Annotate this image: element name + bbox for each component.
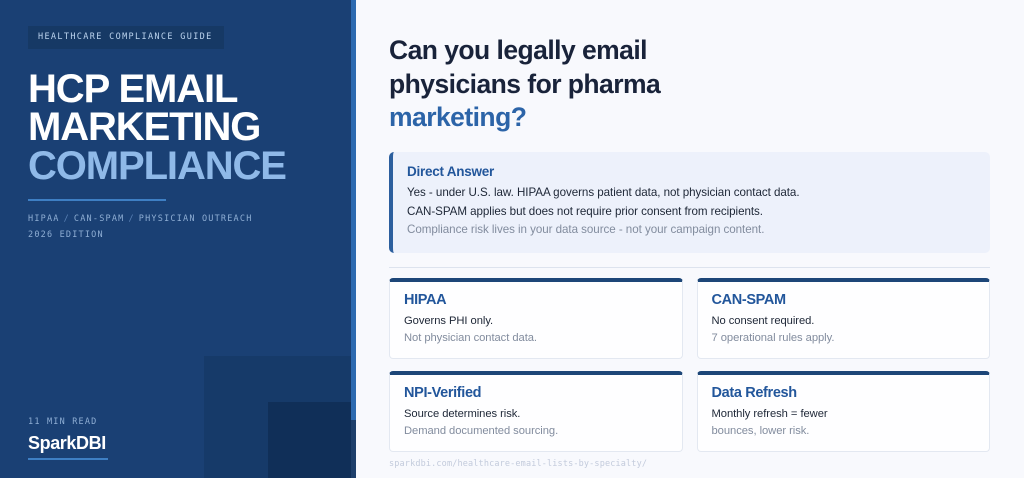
card-title: NPI-Verified [404,385,668,401]
main-content: Can you legally email physicians for pha… [356,0,1024,478]
sidebar: HEALTHCARE COMPLIANCE GUIDE HCP EMAIL MA… [0,0,356,478]
direct-answer-title: Direct Answer [407,164,974,179]
card-title: Data Refresh [712,385,976,401]
card-title: CAN-SPAM [712,292,976,308]
card-line-secondary: bounces, lower risk. [712,423,976,440]
direct-answer-card: Direct Answer Yes - under U.S. law. HIPA… [389,152,990,253]
card-title: HIPAA [404,292,668,308]
brand-logo: SparkDBI [28,434,108,453]
source-url: sparkdbi.com/healthcare-email-lists-by-s… [389,459,647,469]
read-time-label: 11 MIN READ [28,417,108,427]
headline-line-1: Can you legally email [389,35,647,65]
card-line-primary: Monthly refresh = fewer [712,406,976,423]
fact-card-npi-verified: NPI-Verified Source determines risk. Dem… [389,371,683,452]
card-line-primary: Source determines risk. [404,406,668,423]
decorative-square-inner [268,402,356,478]
card-line-secondary: Not physician contact data. [404,330,668,347]
fact-card-grid: HIPAA Governs PHI only. Not physician co… [389,278,990,452]
sidebar-footer: 11 MIN READ SparkDBI [28,417,108,460]
meta-tag-outreach: PHYSICIAN OUTREACH [139,214,253,224]
page-title: Can you legally email physicians for pha… [389,34,990,135]
card-line-primary: No consent required. [712,313,976,330]
title-line-1: HCP EMAIL [28,70,326,109]
sidebar-content: HEALTHCARE COMPLIANCE GUIDE HCP EMAIL MA… [0,0,356,243]
direct-answer-line-1: Yes - under U.S. law. HIPAA governs pati… [407,184,974,203]
card-line-secondary: Demand documented sourcing. [404,423,668,440]
sidebar-title-block: HCP EMAIL MARKETING COMPLIANCE [28,70,326,186]
meta-tag-hipaa: HIPAA [28,214,60,224]
fact-card-data-refresh: Data Refresh Monthly refresh = fewer bou… [697,371,991,452]
card-line-primary: Governs PHI only. [404,313,668,330]
card-line-secondary: 7 operational rules apply. [712,330,976,347]
title-line-3: COMPLIANCE [28,147,326,186]
headline-line-3: marketing? [389,102,526,132]
headline-line-2: physicians for pharma [389,69,660,99]
meta-edition: 2026 EDITION [28,228,326,243]
direct-answer-line-2: CAN-SPAM applies but does not require pr… [407,203,974,222]
meta-separator-2: / [124,214,138,224]
meta-separator-1: / [60,214,74,224]
direct-answer-line-3: Compliance risk lives in your data sourc… [407,221,974,240]
fact-card-can-spam: CAN-SPAM No consent required. 7 operatio… [697,278,991,359]
title-line-2: MARKETING [28,108,326,147]
fact-card-hipaa: HIPAA Governs PHI only. Not physician co… [389,278,683,359]
meta-tag-canspam: CAN-SPAM [74,214,125,224]
title-accent-rule [28,199,166,202]
eyebrow-badge: HEALTHCARE COMPLIANCE GUIDE [28,26,224,49]
brand-underline [28,458,108,461]
sidebar-meta: HIPAA/CAN-SPAM/PHYSICIAN OUTREACH 2026 E… [28,212,326,242]
section-divider [389,267,990,268]
infographic-page: HEALTHCARE COMPLIANCE GUIDE HCP EMAIL MA… [0,0,1024,478]
